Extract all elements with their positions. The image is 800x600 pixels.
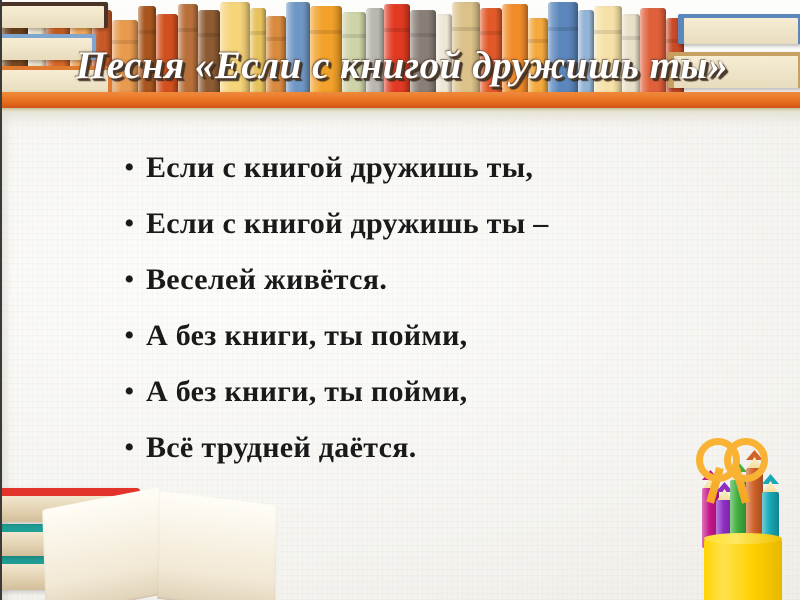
book-pages	[2, 6, 104, 28]
open-book-right-page	[157, 491, 277, 600]
book-pages	[684, 18, 798, 44]
open-book-left-page	[42, 487, 164, 600]
slide: Песня «Если с книгой дружишь ты» •Если с…	[0, 0, 800, 600]
lyric-line: •Всё трудней даётся.	[124, 426, 764, 482]
open-book	[44, 488, 279, 600]
lyric-line-text: А без книги, ты пойми,	[146, 370, 467, 414]
bullet-icon: •	[124, 370, 146, 414]
lyric-line-text: Веселей живётся.	[146, 258, 387, 302]
lyrics-list: •Если с книгой дружишь ты,•Если с книгой…	[124, 146, 764, 482]
bullet-icon: •	[124, 314, 146, 358]
lyric-line: •А без книги, ты пойми,	[124, 314, 764, 370]
bullet-icon: •	[124, 426, 146, 470]
bullet-icon: •	[124, 202, 146, 246]
lyric-line-text: А без книги, ты пойми,	[146, 314, 467, 358]
stacked-book-right-top	[678, 14, 800, 44]
bullet-icon: •	[124, 146, 146, 190]
stacked-book-left-top	[2, 2, 108, 28]
page-title: Песня «Если с книгой дружишь ты»	[2, 44, 800, 88]
lyric-line: •А без книги, ты пойми,	[124, 370, 764, 426]
lyric-line-text: Если с книгой дружишь ты,	[146, 146, 533, 190]
bullet-icon: •	[124, 258, 146, 302]
lyric-line-text: Всё трудней даётся.	[146, 426, 417, 470]
lyric-line-text: Если с книгой дружишь ты –	[146, 202, 549, 246]
shelf-board	[2, 92, 800, 112]
lyric-line: •Если с книгой дружишь ты,	[124, 146, 764, 202]
cup-body	[704, 538, 782, 600]
lyric-line: •Веселей живётся.	[124, 258, 764, 314]
lyric-line: •Если с книгой дружишь ты –	[124, 202, 764, 258]
